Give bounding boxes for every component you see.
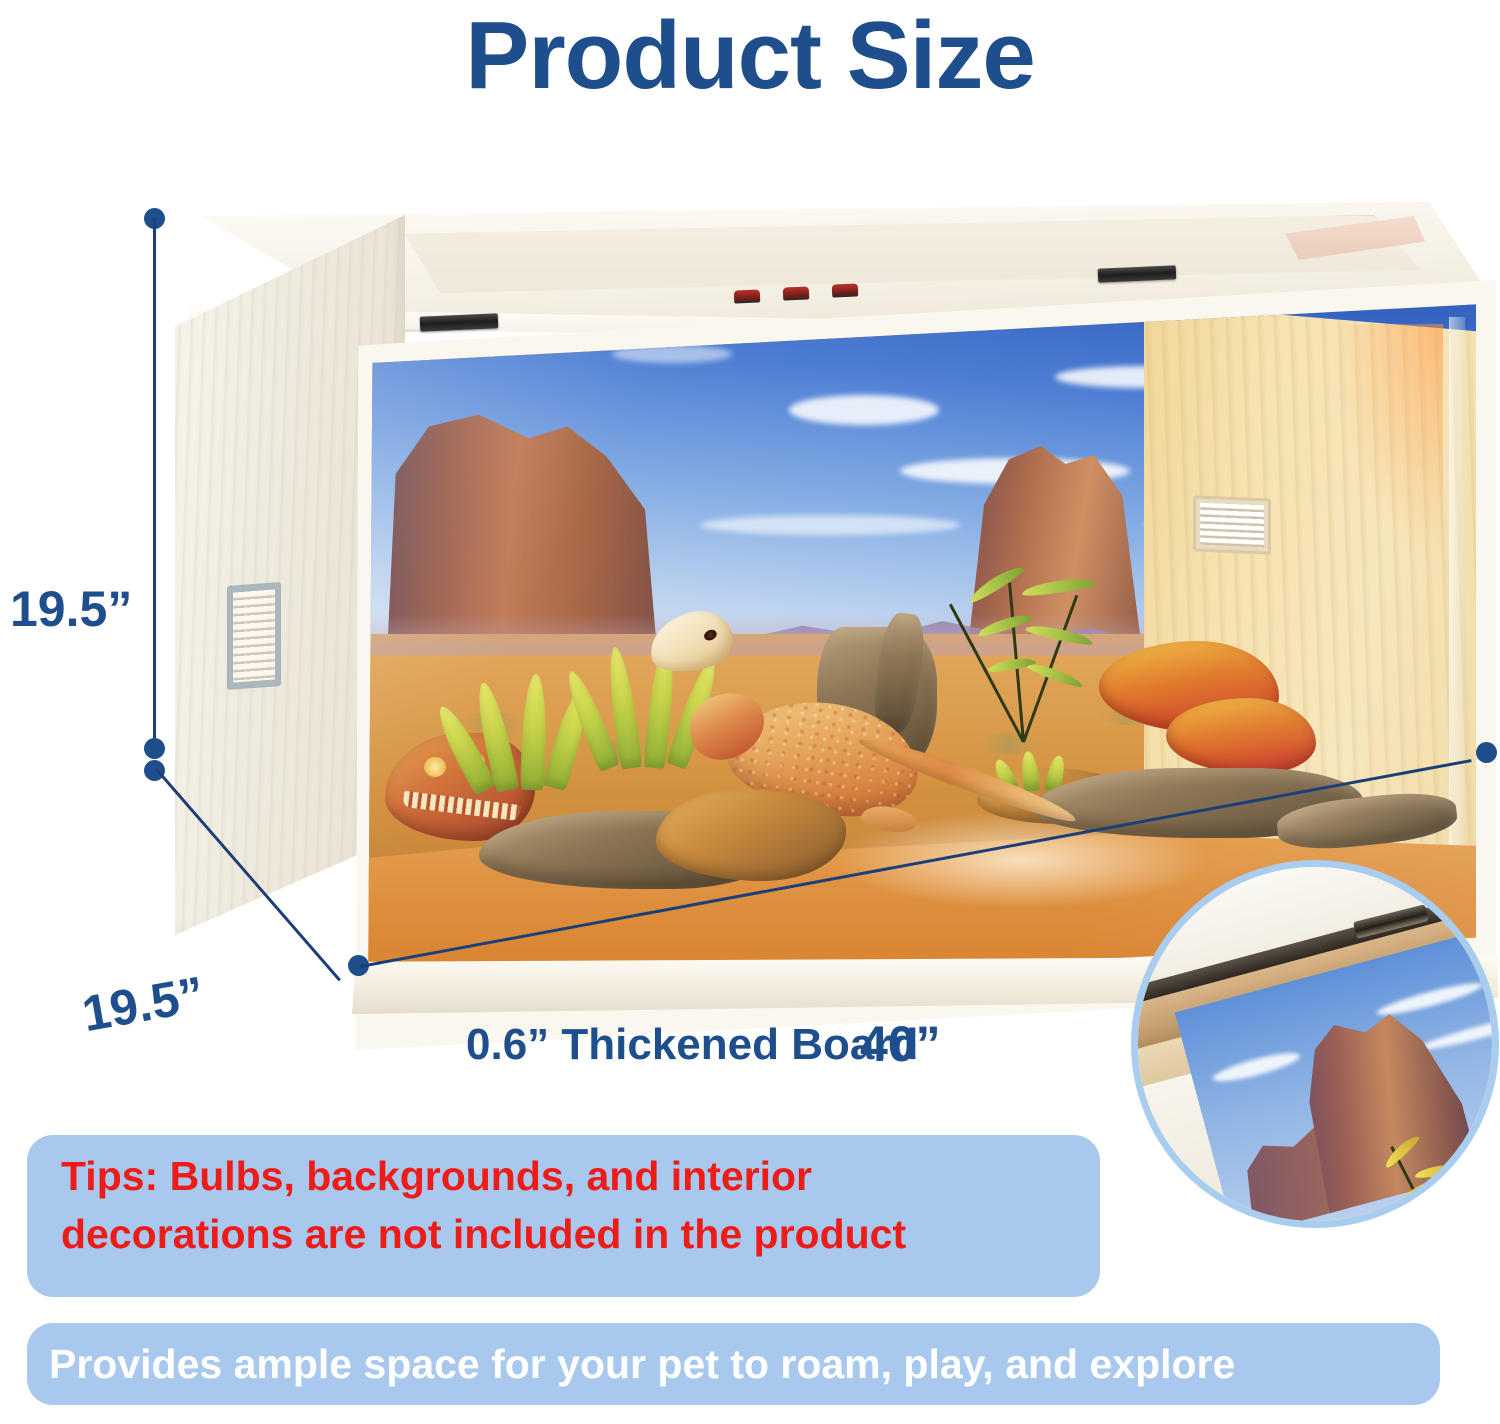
leaf	[520, 673, 548, 790]
fern-frond	[1021, 576, 1096, 598]
dragon-eye	[702, 627, 718, 642]
height-dim-label: 19.5”	[10, 580, 132, 638]
benefit-banner-box: Provides ample space for your pet to roa…	[27, 1323, 1440, 1405]
fern-frond	[967, 562, 1026, 605]
height-dim-line	[153, 218, 156, 753]
lid-latch-3-icon	[832, 283, 859, 297]
width-dim-dot-right	[1476, 742, 1497, 763]
leaf	[1019, 751, 1039, 792]
interior-vent-grille-icon	[1193, 495, 1271, 554]
fern-frond	[1413, 1161, 1466, 1179]
lid-latch-1-icon	[734, 289, 761, 303]
lid-latch-2-icon	[783, 286, 810, 300]
thickened-board-caption: 0.6” Thickened Board	[466, 1020, 918, 1070]
basking-rock	[656, 789, 846, 881]
side-vent-grille-icon	[228, 583, 280, 689]
height-dim-dot-bottom	[144, 738, 165, 759]
tips-text: Tips: Bulbs, backgrounds, and interior d…	[61, 1147, 1066, 1263]
board-thickness-detail-inset	[1131, 860, 1499, 1228]
dragon-hind-leg	[859, 803, 918, 835]
benefit-banner-text: Provides ample space for your pet to roa…	[27, 1341, 1235, 1388]
heat-lamp-glow	[1332, 324, 1443, 564]
cloud-1	[789, 395, 939, 425]
cloud-4	[700, 515, 960, 535]
dragon-head	[643, 603, 739, 680]
fern-frond	[1026, 660, 1084, 689]
inset-photo	[1138, 867, 1492, 1221]
page-title: Product Size	[0, 6, 1500, 107]
skull-eye-left	[424, 757, 446, 777]
tips-callout-box: Tips: Bulbs, backgrounds, and interior d…	[27, 1135, 1100, 1297]
tips-line-1: Tips: Bulbs, backgrounds, and interior	[61, 1147, 1066, 1205]
depth-dim-label: 19.5”	[78, 965, 209, 1043]
tips-line-2: decorations are not included in the prod…	[61, 1205, 1066, 1263]
